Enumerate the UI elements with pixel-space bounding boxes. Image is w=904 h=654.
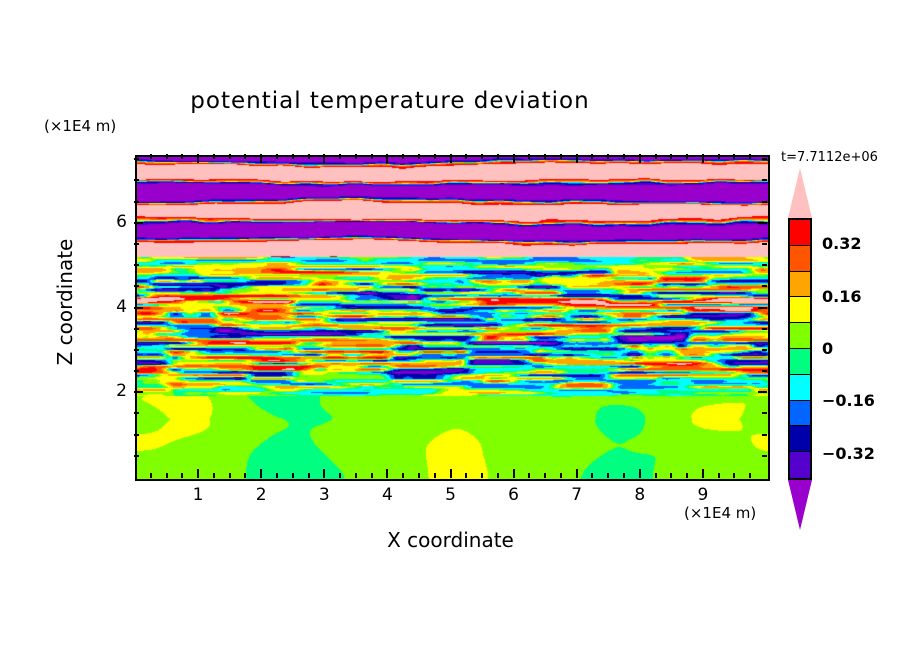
y-tick [762,201,767,203]
x-tick [733,154,735,159]
x-tick [607,473,609,478]
colorbar: 0.320.160−0.16−0.32 [782,168,902,498]
colorbar-bands [788,218,812,480]
x-tick-label: 5 [431,485,471,505]
x-tick [465,473,467,478]
x-tick [702,154,704,163]
x-tick [528,473,530,478]
y-tick-label: 6 [101,212,127,232]
y-tick [134,412,139,414]
y-tick [134,264,139,266]
contour-plot-area [135,155,770,481]
y-tick [134,349,139,351]
x-tick [702,469,704,478]
x-tick [465,154,467,159]
y-tick [134,179,139,181]
x-tick-label: 7 [557,485,597,505]
x-tick [418,154,420,159]
colorbar-tick-label: −0.32 [822,444,875,463]
x-tick [560,473,562,478]
x-tick [323,154,325,163]
y-tick [762,328,767,330]
colorbar-tick-label: −0.16 [822,391,875,410]
time-annotation: t=7.7112e+06 [781,150,878,165]
x-tick [213,473,215,478]
x-tick [450,154,452,163]
y-tick [762,455,767,457]
x-tick [418,473,420,478]
x-tick [166,473,168,478]
page-title: potential temperature deviation [0,88,780,114]
x-tick [450,469,452,478]
x-tick [686,473,688,478]
y-tick [134,370,139,372]
colorbar-band [790,375,810,401]
y-tick [762,158,767,160]
x-tick [355,473,357,478]
y-tick [762,434,767,436]
x-tick [434,473,436,478]
x-tick [623,154,625,159]
x-axis-unit-label: (×1E4 m) [684,504,756,522]
x-tick [181,473,183,478]
x-tick [670,473,672,478]
colorbar-band [790,349,810,375]
x-tick [244,473,246,478]
x-tick [386,469,388,478]
colorbar-band [790,401,810,427]
x-tick [402,473,404,478]
colorbar-top-arrow-cap [788,168,812,218]
y-tick [762,243,767,245]
x-tick [749,154,751,159]
x-tick-label: 1 [178,485,218,505]
x-tick [544,154,546,159]
y-tick [134,201,139,203]
x-tick [639,154,641,163]
x-tick [528,154,530,159]
x-tick [292,154,294,159]
x-tick [591,473,593,478]
colorbar-band [790,246,810,272]
x-tick [576,469,578,478]
colorbar-band [790,452,810,478]
x-tick [591,154,593,159]
x-tick-label: 6 [494,485,534,505]
x-tick [197,469,199,478]
x-tick [718,473,720,478]
z-axis-unit-label: (×1E4 m) [44,117,116,135]
x-tick [260,469,262,478]
y-tick [762,179,767,181]
x-tick [308,154,310,159]
y-tick-label: 4 [101,297,127,317]
x-tick [655,473,657,478]
x-tick [355,154,357,159]
x-tick [371,154,373,159]
x-tick-label: 9 [683,485,723,505]
y-tick [758,391,767,393]
x-tick [260,154,262,163]
temperature-deviation-heatmap [137,157,768,479]
y-tick [762,370,767,372]
x-tick [497,154,499,159]
x-tick [560,154,562,159]
x-tick-label: 2 [241,485,281,505]
x-tick [339,473,341,478]
x-tick [513,154,515,163]
x-tick [213,154,215,159]
colorbar-band [790,220,810,246]
x-tick [339,154,341,159]
x-tick [308,473,310,478]
y-tick [134,243,139,245]
y-tick [762,285,767,287]
x-tick [229,154,231,159]
x-tick [639,469,641,478]
y-tick [134,222,143,224]
y-tick [134,158,139,160]
colorbar-band [790,272,810,298]
x-tick [670,154,672,159]
x-tick [197,154,199,163]
y-tick [134,307,143,309]
x-tick [150,473,152,478]
x-tick [371,473,373,478]
colorbar-tick-label: 0 [822,339,833,358]
x-tick [481,154,483,159]
x-tick [607,154,609,159]
x-tick [181,154,183,159]
x-tick [655,154,657,159]
x-tick-label: 8 [620,485,660,505]
colorbar-band [790,323,810,349]
x-tick [718,154,720,159]
x-tick-label: 4 [367,485,407,505]
x-tick [513,469,515,478]
y-tick [134,285,139,287]
colorbar-tick-label: 0.32 [822,234,861,253]
x-tick [686,154,688,159]
y-tick [762,412,767,414]
x-axis-title: X coordinate [135,528,766,552]
x-tick [733,473,735,478]
colorbar-tick-label: 0.16 [822,287,861,306]
x-tick [276,473,278,478]
x-tick [386,154,388,163]
x-tick [623,473,625,478]
x-tick [481,473,483,478]
y-tick [134,434,139,436]
y-tick [758,222,767,224]
x-tick [576,154,578,163]
y-tick [134,391,143,393]
x-tick [276,154,278,159]
colorbar-bottom-arrow-cap [788,480,812,530]
x-tick [292,473,294,478]
x-tick [323,469,325,478]
x-tick [402,154,404,159]
x-tick [434,154,436,159]
x-tick [229,473,231,478]
colorbar-band [790,426,810,452]
x-tick [166,154,168,159]
y-tick [758,307,767,309]
x-tick [244,154,246,159]
y-tick [134,328,139,330]
y-tick [762,264,767,266]
x-tick [749,473,751,478]
y-axis-title: Z coordinate [53,202,77,402]
y-tick [762,349,767,351]
y-tick [134,455,139,457]
x-tick-label: 3 [304,485,344,505]
x-tick [544,473,546,478]
y-tick-label: 2 [101,381,127,401]
colorbar-band [790,297,810,323]
x-tick [150,154,152,159]
x-tick [497,473,499,478]
